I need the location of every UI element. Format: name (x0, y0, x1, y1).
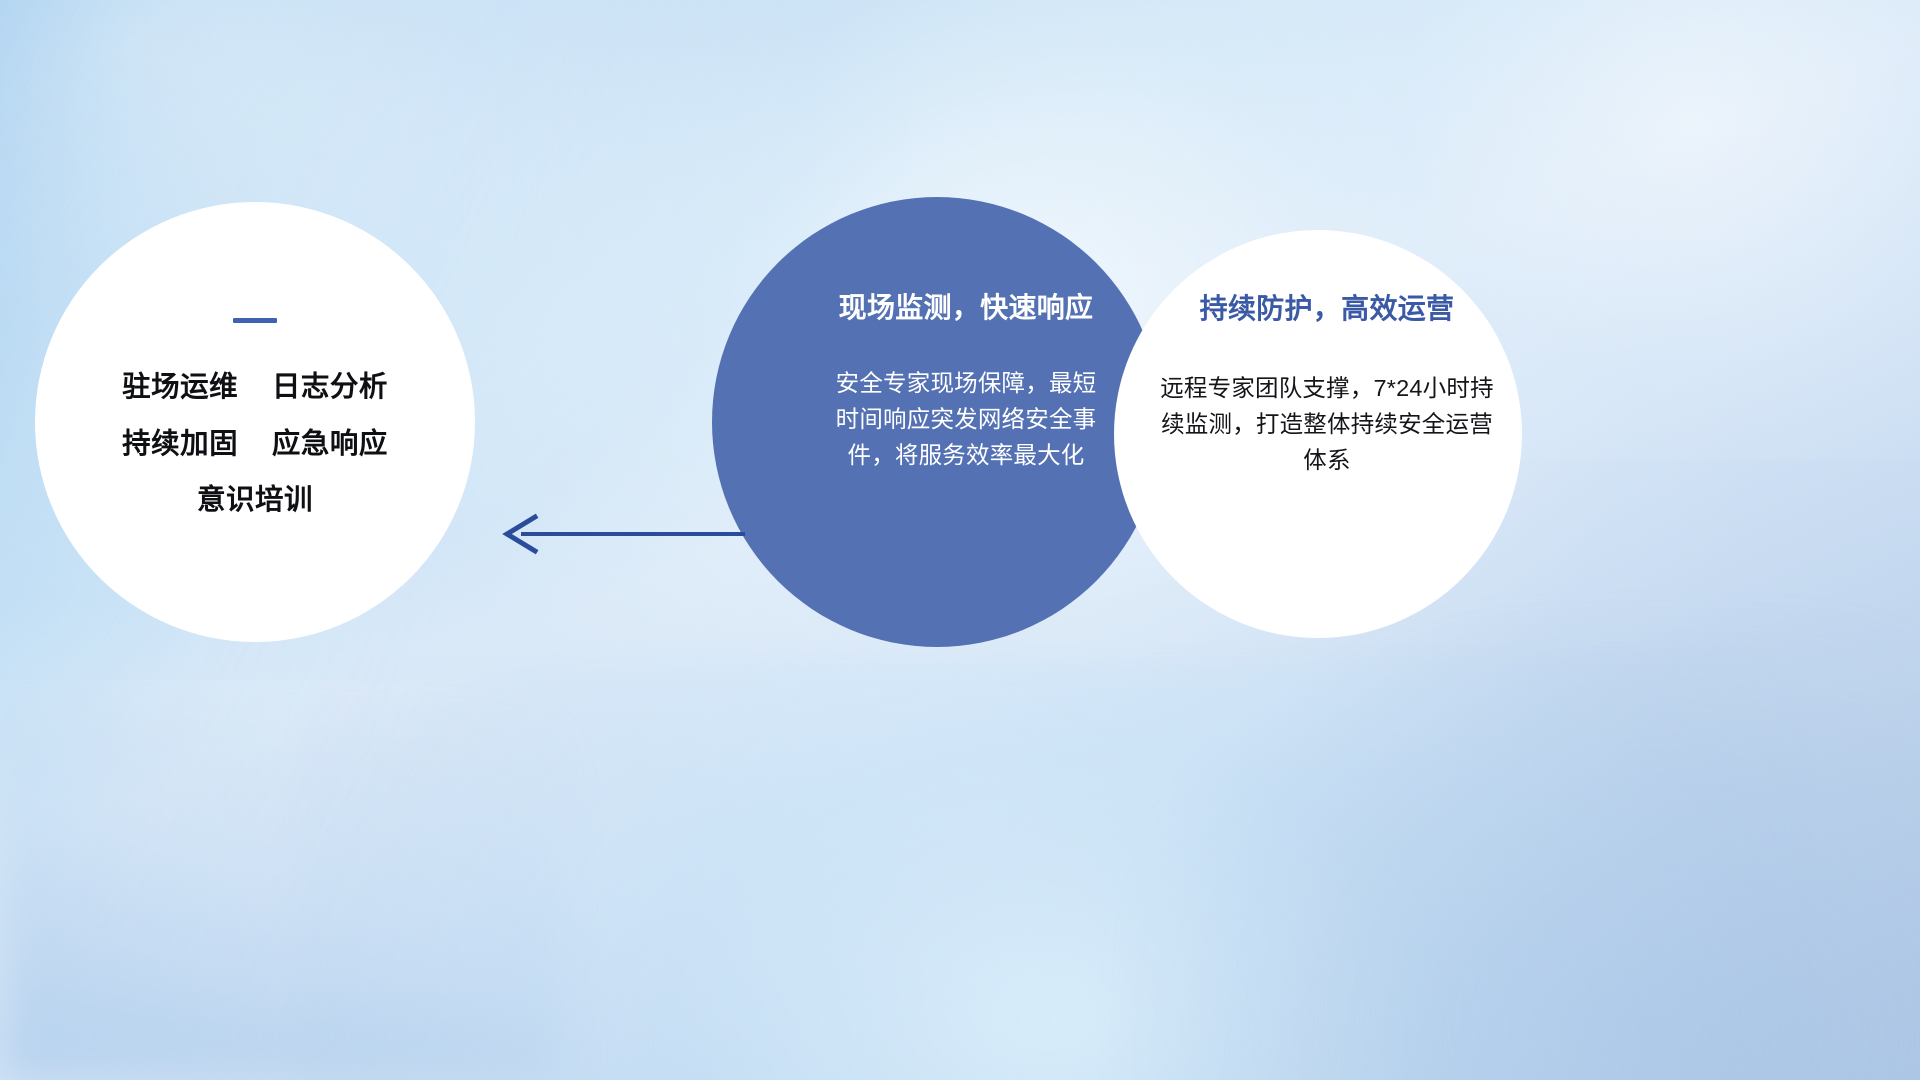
left-circle-divider (233, 318, 277, 323)
connector-arrow (495, 505, 745, 565)
middle-circle-content: 现场监测，快速响应 安全专家现场保障，最短时间响应突发网络安全事件，将服务效率最… (712, 197, 1162, 647)
right-circle-body: 远程专家团队支撑，7*24小时持续监测，打造整体持续安全运营体系 (1151, 370, 1503, 479)
middle-circle-title: 现场监测，快速响应 (839, 291, 1094, 325)
left-circle-line-2: 持续加固 应急响应 (122, 430, 388, 459)
background-glow-bottom-right (1130, 620, 1920, 1080)
left-circle-content: 驻场运维 日志分析 持续加固 应急响应 意识培训 (35, 202, 475, 642)
right-circle-title: 持续防护，高效运营 (1200, 292, 1455, 326)
diagram-canvas: 驻场运维 日志分析 持续加固 应急响应 意识培训 现场监测，快速响应 安全专家现… (0, 0, 1920, 1080)
left-circle-line-3: 意识培训 (197, 486, 313, 515)
right-circle-content: 持续防护，高效运营 远程专家团队支撑，7*24小时持续监测，打造整体持续安全运营… (1114, 230, 1522, 638)
left-circle-line-1: 驻场运维 日志分析 (122, 373, 388, 402)
middle-circle-body: 安全专家现场保障，最短时间响应突发网络安全事件，将服务效率最大化 (832, 365, 1100, 474)
left-arrow-icon (495, 505, 745, 565)
background-veil-bottom-left (0, 720, 560, 1080)
